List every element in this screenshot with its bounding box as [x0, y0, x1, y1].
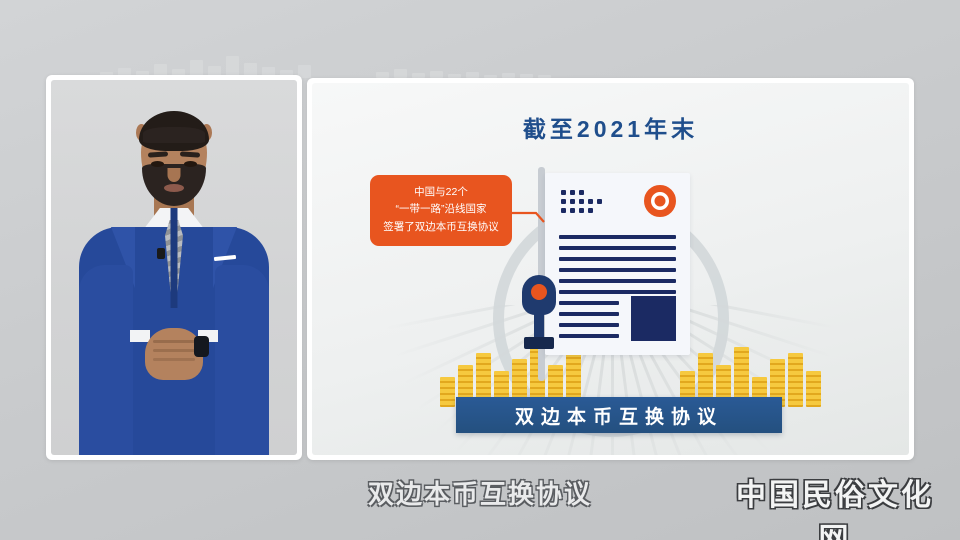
document-dot	[561, 190, 566, 195]
rubber-stamp-icon	[522, 275, 556, 349]
document-text-line	[559, 290, 676, 294]
lapel-microphone-icon	[157, 248, 165, 259]
document-text-line	[559, 312, 619, 316]
presenter-nose	[168, 168, 181, 182]
stamp-head	[522, 275, 556, 315]
presenter-jacket-seam	[171, 208, 178, 308]
coin-stack	[788, 353, 803, 407]
slide-title: 截至2021年末	[312, 110, 909, 144]
background-skyline-watermark	[100, 38, 660, 78]
stamp-dot	[531, 284, 547, 300]
presenter-mouth	[164, 184, 184, 192]
statistic-callout: 中国与22个 “一带一路”沿线国家 签署了双边本币互换协议	[370, 175, 512, 246]
document-text-line	[559, 279, 676, 283]
presenter-eye-right	[184, 161, 197, 167]
banner-label: 双边本币互换协议	[456, 397, 782, 433]
callout-line-3: 签署了双边本币互换协议	[377, 219, 505, 236]
coin-stack	[440, 377, 455, 407]
document-dot	[570, 190, 575, 195]
document-text-line	[559, 301, 619, 305]
document-text-line	[559, 323, 619, 327]
watermark-site-name: 中国民俗文化网	[726, 470, 944, 540]
document-dot	[597, 199, 602, 204]
document-text-line	[559, 235, 676, 239]
presenter-hair	[139, 111, 209, 151]
coin-stack	[806, 371, 821, 407]
document-dot	[588, 208, 593, 213]
document-dot	[570, 208, 575, 213]
document-dot	[579, 208, 584, 213]
agreement-document	[545, 173, 690, 355]
document-dot	[570, 199, 575, 204]
presenter-right-arm	[215, 265, 269, 455]
presenter-eye-left	[151, 161, 164, 167]
callout-tail-icon	[510, 209, 546, 225]
document-dot	[561, 199, 566, 204]
presenter-cuff-left	[130, 330, 150, 342]
callout-line-2: “一带一路”沿线国家	[377, 201, 505, 218]
infographic-slide: 截至2021年末 中国与22个 “一带一路”沿线国家 签署了双边本币互换协议	[312, 83, 909, 455]
stamp-base	[524, 337, 554, 349]
callout-line-1: 中国与22个	[377, 184, 505, 201]
document-dot	[561, 208, 566, 213]
presenter-panel	[46, 75, 302, 460]
document-dot	[588, 199, 593, 204]
document-text-line	[559, 334, 619, 338]
document-text-line	[559, 268, 676, 272]
presenter-video	[51, 80, 297, 455]
document-dot	[579, 199, 584, 204]
target-seal-icon	[644, 185, 676, 217]
document-text-line	[559, 257, 676, 261]
presenter-left-arm	[79, 265, 133, 455]
site-watermark: 中国民俗文化网 www.zgwhw.com	[726, 470, 944, 540]
infographic-panel: 截至2021年末 中国与22个 “一带一路”沿线国家 签署了双边本币互换协议	[307, 78, 914, 460]
document-text-line	[559, 246, 676, 250]
presenter-wristwatch	[194, 336, 209, 357]
navy-square-block	[631, 296, 676, 341]
document-dot	[579, 190, 584, 195]
